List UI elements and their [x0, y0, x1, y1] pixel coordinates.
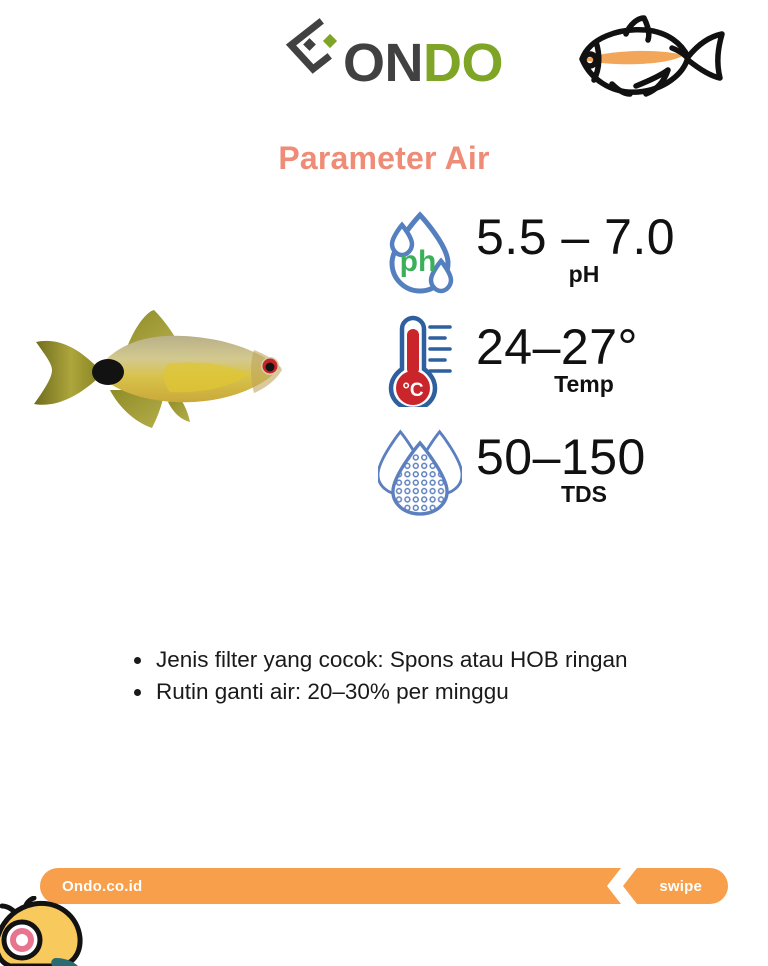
website-label: Ondo.co.id: [40, 878, 142, 895]
water-parameter-list: ph 5.5 – 7.0 pH °C: [378, 205, 708, 535]
page-header: ONDO: [0, 0, 768, 118]
parameter-label-ph: pH: [476, 261, 708, 288]
tetra-fish-line-art-icon: [560, 12, 732, 104]
svg-text:°C: °C: [402, 380, 424, 401]
parameter-row-temp: °C 24–27° Temp: [378, 315, 708, 425]
svg-text:ph: ph: [400, 245, 437, 278]
wordmark-part-do: DO: [423, 33, 503, 93]
parameter-label-temp: Temp: [476, 371, 708, 398]
wordmark-part-on: ON: [343, 33, 423, 93]
swipe-label: swipe: [637, 878, 728, 895]
parameter-value-tds: 50–150: [476, 431, 708, 483]
tds-water-drops-icon: [378, 425, 462, 517]
brand-wordmark: ONDO: [343, 36, 503, 90]
bottom-bar[interactable]: Ondo.co.id swipe: [40, 868, 728, 904]
parameter-value-ph: 5.5 – 7.0: [476, 211, 708, 263]
parameter-value-temp: 24–27°: [476, 321, 708, 373]
parameter-text-ph: 5.5 – 7.0 pH: [462, 205, 708, 288]
ondo-mascot-icon: [0, 896, 98, 966]
lemon-tetra-fish-photo: [18, 298, 308, 448]
ph-water-drop-icon: ph: [378, 205, 462, 297]
chevron-left-icon: [607, 868, 637, 904]
list-item: Jenis filter yang cocok: Spons atau HOB …: [134, 644, 734, 676]
ondo-diamond-logo-icon: [283, 17, 345, 79]
parameter-text-tds: 50–150 TDS: [462, 425, 708, 508]
thermometer-icon: °C: [378, 315, 462, 407]
care-notes-list: Jenis filter yang cocok: Spons atau HOB …: [112, 644, 734, 708]
parameter-row-ph: ph 5.5 – 7.0 pH: [378, 205, 708, 315]
page-title: Parameter Air: [0, 140, 768, 177]
parameter-row-tds: 50–150 TDS: [378, 425, 708, 535]
parameter-text-temp: 24–27° Temp: [462, 315, 708, 398]
swipe-group[interactable]: swipe: [607, 868, 728, 904]
parameter-label-tds: TDS: [476, 481, 708, 508]
list-item: Rutin ganti air: 20–30% per minggu: [134, 676, 734, 708]
brand-logo[interactable]: ONDO: [283, 22, 503, 90]
